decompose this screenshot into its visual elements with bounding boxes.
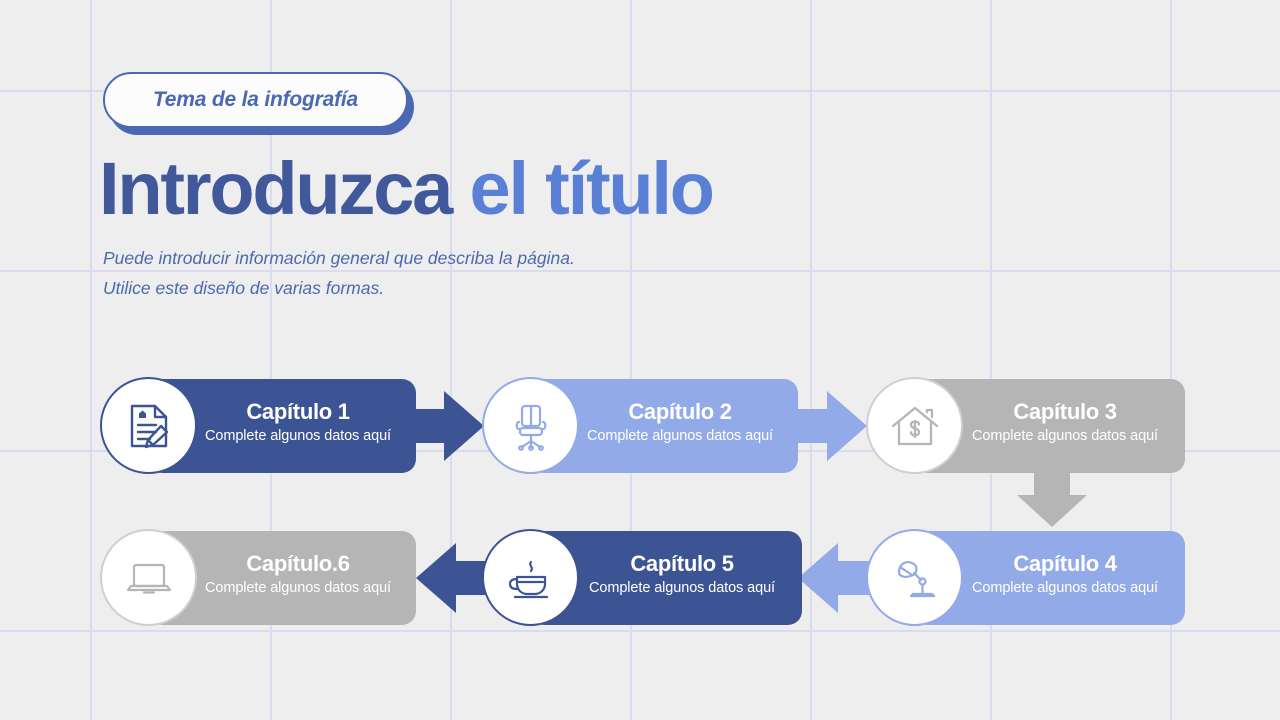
laptop-icon [123, 552, 175, 604]
chapter-title: Capítulo 4 [945, 550, 1185, 578]
grid-line-vertical [90, 0, 92, 720]
page-subtitle-line-1: Puede introducir información general que… [103, 243, 575, 273]
topic-tag-body: Tema de la infografía [103, 72, 408, 128]
coffee-cup-icon [505, 552, 557, 604]
page-title-part-2: el título [469, 147, 712, 230]
chapter-subtitle: Complete algunos datos aquí [562, 426, 798, 448]
infographic-canvas: Tema de la infografía Introduzca el títu… [0, 0, 1280, 720]
chapter-icon-bubble-4 [866, 529, 963, 626]
page-title-part-1: Introduzca [99, 147, 469, 230]
chapter-subtitle: Complete algunos datos aquí [562, 578, 802, 600]
chapter-card-5-text: Capítulo 5 Complete algunos datos aquí [562, 550, 802, 599]
chapter-title: Capítulo.6 [180, 550, 416, 578]
office-chair-icon [505, 400, 557, 452]
chapter-icon-bubble-6 [100, 529, 197, 626]
chapter-card-6-text: Capítulo.6 Complete algunos datos aquí [180, 550, 416, 599]
chapter-card-2-text: Capítulo 2 Complete algunos datos aquí [562, 398, 798, 447]
desk-lamp-icon [889, 552, 941, 604]
chapter-title: Capítulo 5 [562, 550, 802, 578]
grid-line-horizontal [0, 630, 1280, 632]
page-title: Introduzca el título [99, 152, 713, 226]
chapter-title: Capítulo 1 [180, 398, 416, 426]
page-subtitle-line-2: Utilice este diseño de varias formas. [103, 273, 575, 303]
chapter-subtitle: Complete algunos datos aquí [945, 578, 1185, 600]
chapter-icon-bubble-5 [482, 529, 579, 626]
chapter-title: Capítulo 3 [945, 398, 1185, 426]
document-pencil-icon [123, 400, 175, 452]
chapter-card-4-text: Capítulo 4 Complete algunos datos aquí [945, 550, 1185, 599]
chapter-subtitle: Complete algunos datos aquí [180, 426, 416, 448]
chapter-card-1-text: Capítulo 1 Complete algunos datos aquí [180, 398, 416, 447]
chapter-card-3-text: Capítulo 3 Complete algunos datos aquí [945, 398, 1185, 447]
house-dollar-icon [889, 400, 941, 452]
chapter-subtitle: Complete algunos datos aquí [180, 578, 416, 600]
chapter-icon-bubble-1 [100, 377, 197, 474]
chapter-icon-bubble-2 [482, 377, 579, 474]
chapter-title: Capítulo 2 [562, 398, 798, 426]
topic-tag: Tema de la infografía [103, 72, 408, 130]
chapter-subtitle: Complete algunos datos aquí [945, 426, 1185, 448]
topic-tag-label: Tema de la infografía [153, 88, 358, 112]
chapter-icon-bubble-3 [866, 377, 963, 474]
page-subtitle: Puede introducir información general que… [103, 243, 575, 303]
